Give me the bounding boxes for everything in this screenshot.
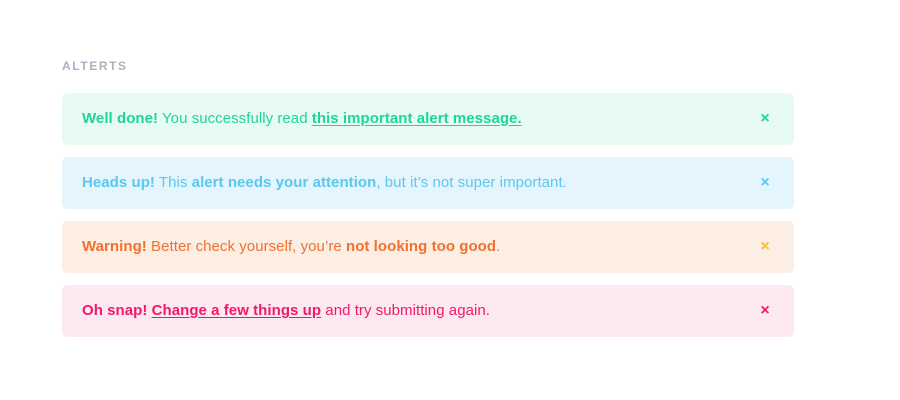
alert-info-emphasis: alert needs your attention [192, 174, 377, 191]
alert-info-message: Heads up! This alert needs your attentio… [82, 173, 607, 193]
alert-success-link[interactable]: this important alert message. [312, 110, 522, 127]
close-icon[interactable]: × [754, 108, 776, 130]
alert-danger-tail: and try submitting again. [321, 302, 490, 319]
alert-warning-emphasis: not looking too good [346, 238, 496, 255]
alert-warning: Warning! Better check yourself, you’re n… [62, 221, 794, 273]
alert-info-strong: Heads up! [82, 174, 155, 191]
alert-success-strong: Well done! [82, 110, 158, 127]
alert-info-middle: This [155, 174, 192, 191]
close-icon[interactable]: × [754, 300, 776, 322]
alert-danger-link[interactable]: Change a few things up [152, 302, 321, 319]
alert-danger-strong: Oh snap! [82, 302, 147, 319]
alert-success: Well done! You successfully read this im… [62, 93, 794, 145]
close-icon[interactable]: × [754, 236, 776, 258]
alert-stack: Well done! You successfully read this im… [62, 93, 794, 337]
alerts-page: ALTERTS Well done! You successfully read… [0, 0, 900, 400]
alert-success-message: Well done! You successfully read this im… [82, 109, 562, 129]
alert-warning-middle: Better check yourself, you’re [147, 238, 346, 255]
alert-warning-tail: . [496, 238, 500, 255]
section-label-alerts: ALTERTS [62, 58, 128, 74]
alert-warning-message: Warning! Better check yourself, you’re n… [82, 237, 540, 257]
alert-info: Heads up! This alert needs your attentio… [62, 157, 794, 209]
alert-danger: Oh snap! Change a few things up and try … [62, 285, 794, 337]
close-icon[interactable]: × [754, 172, 776, 194]
alert-info-tail: , but it’s not super important. [376, 174, 567, 191]
alert-danger-message: Oh snap! Change a few things up and try … [82, 301, 530, 321]
alert-warning-strong: Warning! [82, 238, 147, 255]
alert-success-middle: You successfully read [158, 110, 312, 127]
